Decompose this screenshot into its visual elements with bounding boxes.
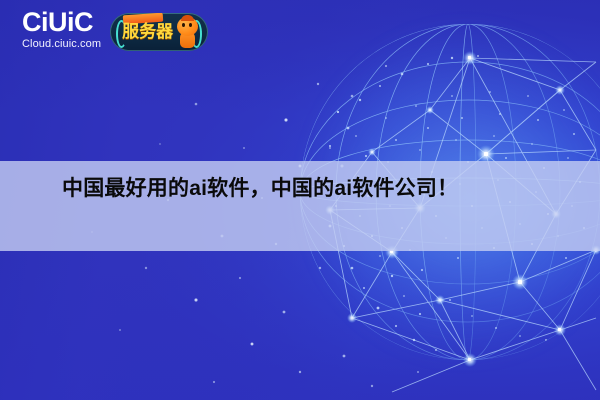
brand-logo[interactable]: CiUiC Cloud.ciuic.com 服务器: [22, 8, 208, 52]
badge-label: 服务器: [122, 21, 173, 43]
brand-name: CiUiC: [22, 8, 101, 37]
mascot-icon: [173, 16, 203, 49]
headline-text: 中国最好用的ai软件，中国的ai软件公司！: [0, 161, 600, 251]
server-badge: 服务器: [110, 13, 208, 51]
mascot-hair: [181, 15, 194, 21]
brand-logo-text: CiUiC Cloud.ciuic.com: [22, 8, 101, 52]
brand-domain: Cloud.ciuic.com: [22, 37, 101, 52]
promo-banner: 中国最好用的ai软件，中国的ai软件公司！ CiUiC Cloud.ciuic.…: [0, 0, 600, 400]
